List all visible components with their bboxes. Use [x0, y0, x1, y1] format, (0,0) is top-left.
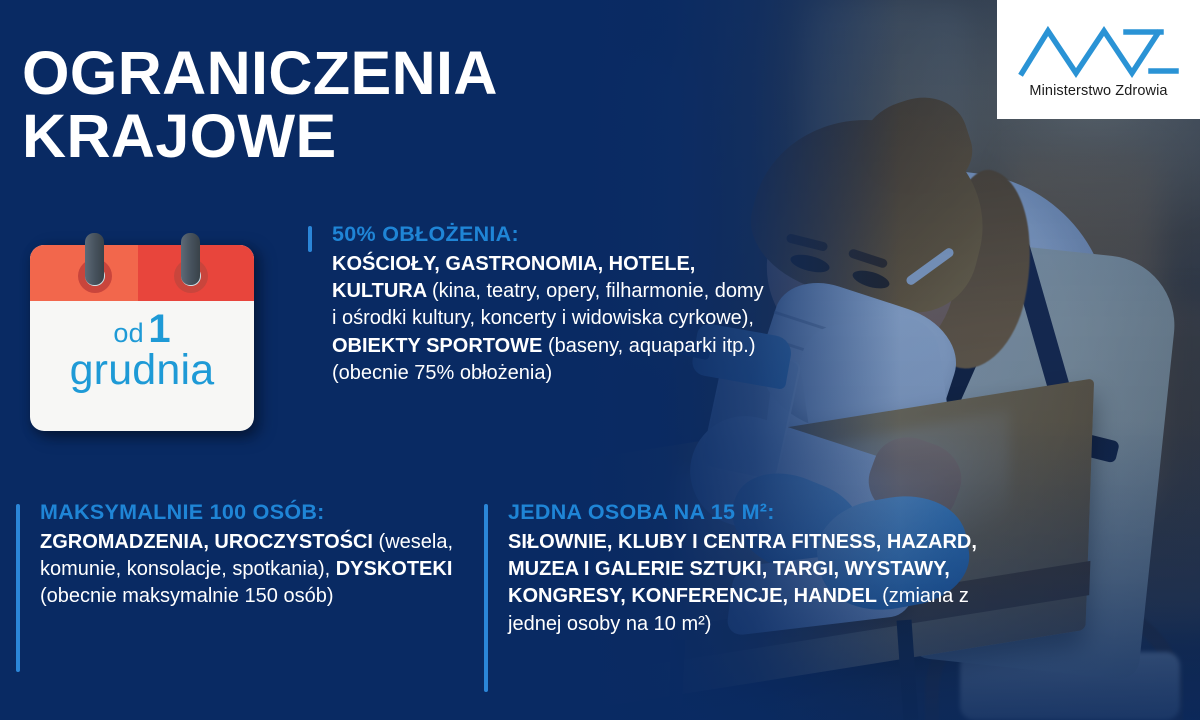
calendar-peg — [181, 233, 200, 285]
calendar-icon: od 1 grudnia — [30, 235, 262, 440]
page-title: OGRANICZENIA KRAJOWE — [22, 42, 662, 168]
rule-block-occupancy-50: 50% OBŁOŻENIA: KOŚCIOŁY, GASTRONOMIA, HO… — [308, 222, 772, 387]
calendar-peg — [85, 233, 104, 285]
rule-heading: JEDNA OSOBA NA 15 M²: — [508, 500, 978, 525]
calendar-prefix: od — [113, 318, 144, 348]
rule-text-bold: OBIEKTY SPORTOWE — [332, 335, 548, 357]
rule-body: ZGROMADZENIA, UROCZYSTOŚCI (wesela, komu… — [40, 529, 490, 611]
rule-text-bold: ZGROMADZENIA, UROCZYSTOŚCI — [40, 531, 379, 553]
rule-body: KOŚCIOŁY, GASTRONOMIA, HOTELE, KULTURA (… — [332, 251, 772, 387]
calendar-month: grudnia — [30, 348, 254, 394]
infographic-canvas: Ministerstwo Zdrowia OGRANICZENIA KRAJOW… — [0, 0, 1200, 720]
mz-zigzag-icon — [1018, 21, 1180, 79]
rule-block-max-100-persons: MAKSYMALNIE 100 OSÓB: ZGROMADZENIA, UROC… — [16, 500, 490, 611]
page-title-line2: KRAJOWE — [22, 105, 662, 168]
rule-block-one-person-per-15m2: JEDNA OSOBA NA 15 M²: SIŁOWNIE, KLUBY I … — [484, 500, 978, 638]
rule-text-bold: DYSKOTEKI — [336, 558, 453, 580]
calendar-day: 1 — [148, 307, 170, 351]
page-title-line1: OGRANICZENIA — [22, 39, 498, 107]
rule-heading: 50% OBŁOŻENIA: — [332, 222, 772, 247]
rule-body: SIŁOWNIE, KLUBY I CENTRA FITNESS, HAZARD… — [508, 529, 978, 638]
calendar-date-text: od 1 grudnia — [30, 307, 254, 394]
ministry-logo-caption: Ministerstwo Zdrowia — [1029, 83, 1167, 99]
accent-bar — [484, 504, 488, 692]
accent-bar — [16, 504, 20, 672]
rule-text-regular: (obecnie maksymalnie 150 osób) — [40, 585, 334, 607]
calendar-rings — [30, 235, 262, 305]
rule-heading: MAKSYMALNIE 100 OSÓB: — [40, 500, 490, 525]
ministry-logo: Ministerstwo Zdrowia — [997, 0, 1200, 119]
accent-bar — [308, 226, 312, 252]
